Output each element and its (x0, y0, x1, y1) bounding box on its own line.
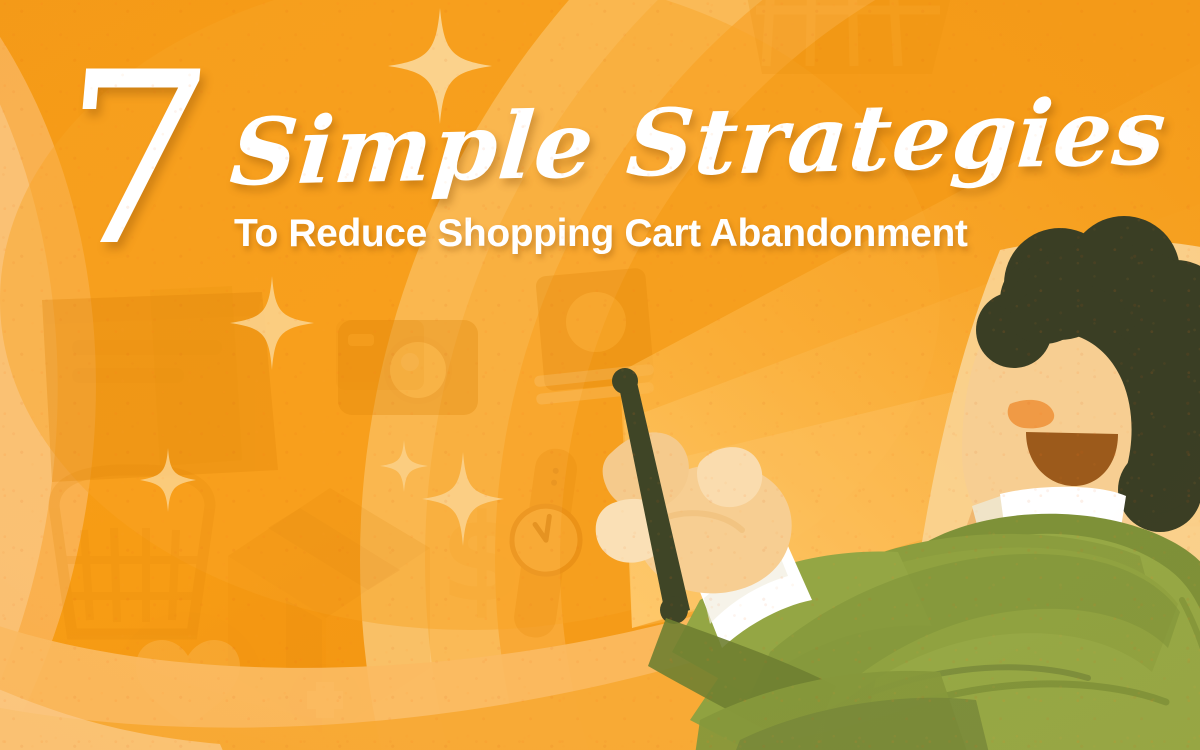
headline-numeral: 7 (48, 42, 214, 280)
headline-subtitle: To Reduce Shopping Cart Abandonment (234, 214, 967, 253)
headline-script-title: Simple Strategies (227, 85, 1170, 198)
hand-holding-device (596, 432, 792, 593)
banner-hero-image: $ $ (0, 0, 1200, 750)
